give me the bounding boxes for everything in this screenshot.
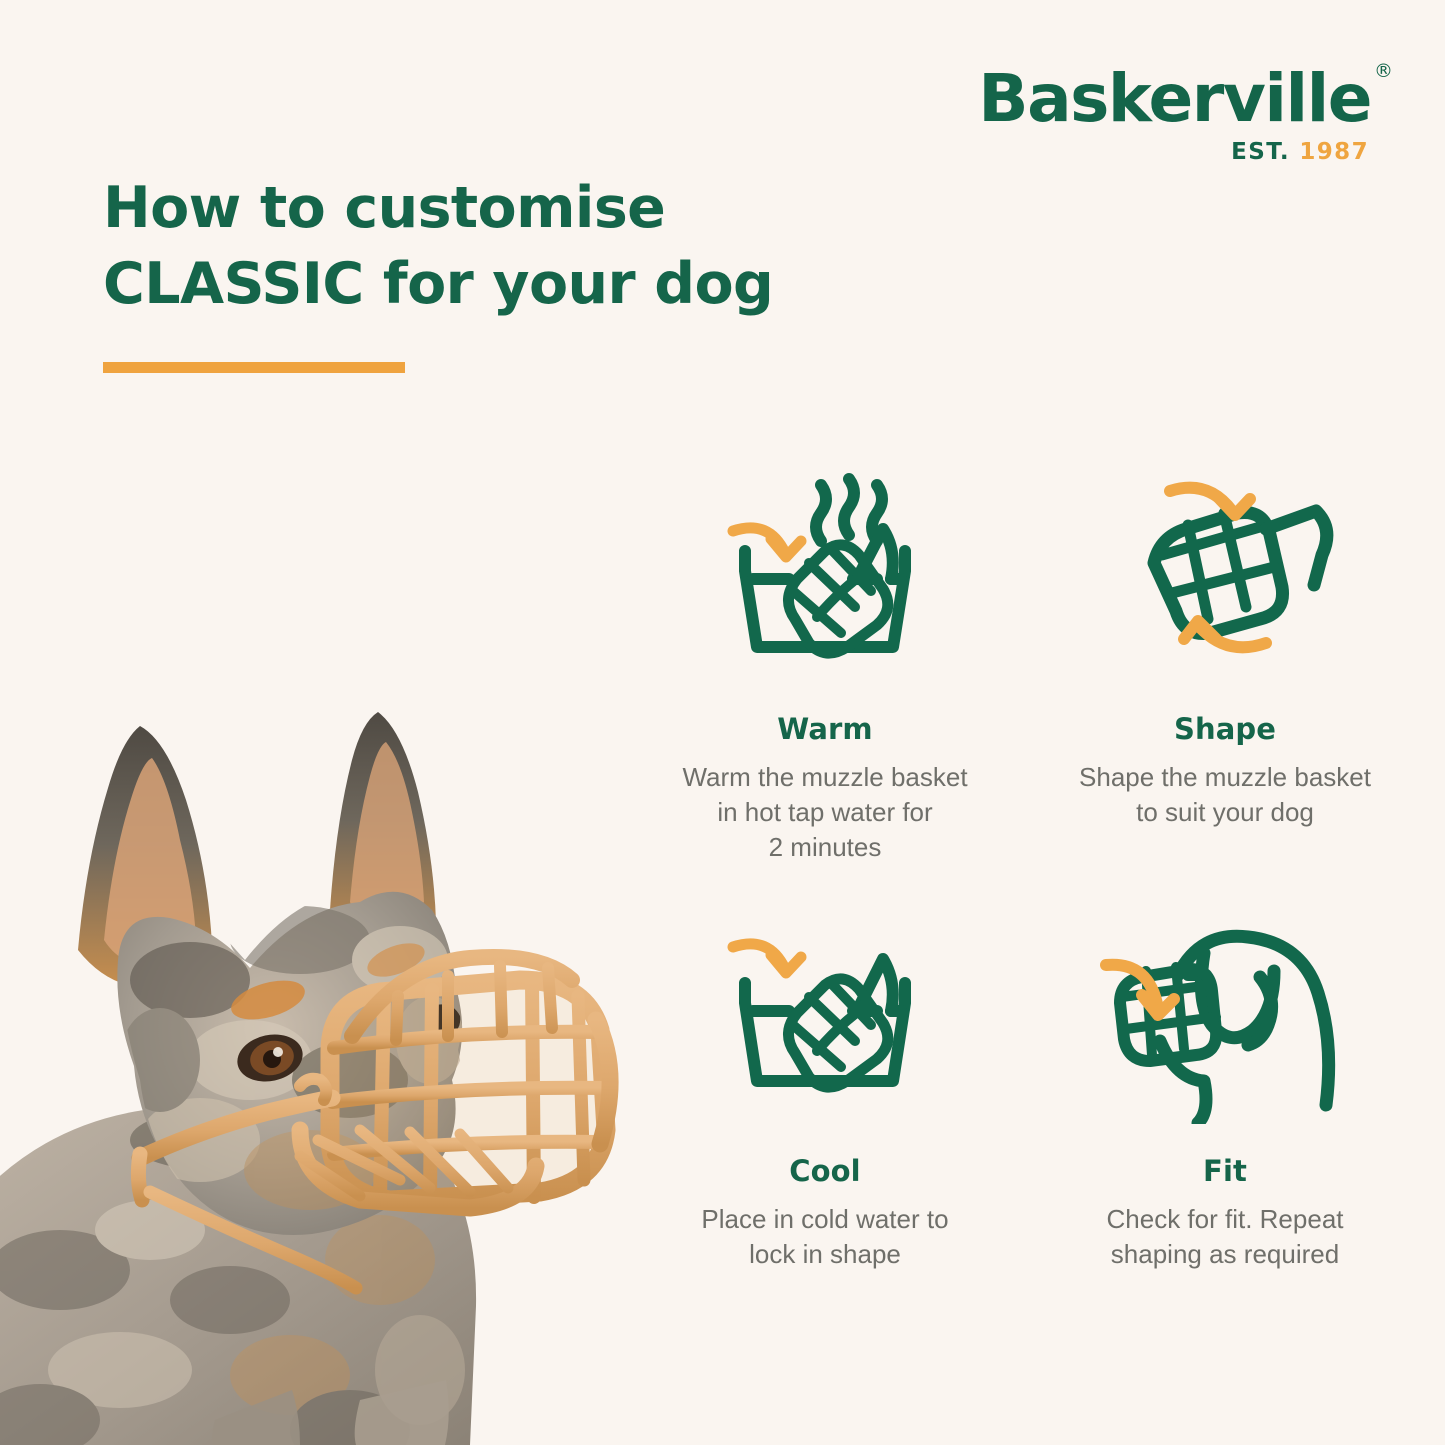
- brand-name: Baskerville ®: [978, 66, 1371, 132]
- dog-photo: [0, 440, 620, 1445]
- title-underline-divider: [103, 362, 405, 373]
- step-description-warm: Warm the muzzle basket in hot tap water …: [682, 760, 967, 864]
- brand-established: EST. 1987: [978, 141, 1369, 164]
- step-description-fit: Check for fit. Repeat shaping as require…: [1107, 1202, 1344, 1272]
- step-title-warm: Warm: [777, 712, 872, 746]
- steps-grid: Warm Warm the muzzle basket in hot tap w…: [625, 462, 1425, 1272]
- step-description-cool: Place in cold water to lock in shape: [701, 1202, 948, 1272]
- brand-name-text: Baskerville: [978, 60, 1371, 137]
- step-card-fit: Fit Check for fit. Repeat shaping as req…: [1025, 924, 1425, 1272]
- page-title: How to customise CLASSIC for your dog: [103, 171, 883, 323]
- step-description-shape: Shape the muzzle basket to suit your dog: [1079, 760, 1371, 830]
- registered-trademark-icon: ®: [1374, 62, 1393, 81]
- fit-dog-head-icon: [1100, 924, 1350, 1124]
- dog-photo-illustration: [0, 440, 620, 1445]
- step-card-cool: Cool Place in cold water to lock in shap…: [625, 924, 1025, 1272]
- step-title-fit: Fit: [1203, 1154, 1247, 1188]
- brand-established-year: 1987: [1299, 139, 1369, 165]
- step-title-shape: Shape: [1174, 712, 1276, 746]
- step-card-warm: Warm Warm the muzzle basket in hot tap w…: [625, 462, 1025, 864]
- brand-logo: Baskerville ® EST. 1987: [978, 66, 1371, 164]
- shape-muzzle-icon: [1110, 462, 1340, 682]
- step-title-cool: Cool: [789, 1154, 860, 1188]
- step-card-shape: Shape Shape the muzzle basket to suit yo…: [1025, 462, 1425, 864]
- cool-basin-icon: [705, 924, 945, 1124]
- warm-basin-icon: [705, 462, 945, 682]
- brand-established-label: EST.: [1231, 139, 1290, 165]
